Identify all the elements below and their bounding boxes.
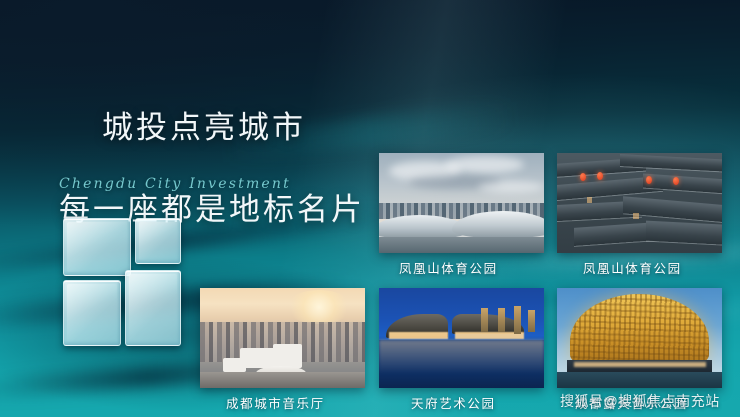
headline-line-1: 城投点亮城市 xyxy=(102,110,306,145)
background-tower xyxy=(498,308,505,332)
gallery-photo-stadium xyxy=(379,153,544,253)
lit-window xyxy=(587,197,592,203)
logo-tile-top-right xyxy=(135,218,181,264)
gallery-caption-music-hall: 成都城市音乐厅 xyxy=(226,393,325,412)
gallery-photo-music-hall xyxy=(200,288,365,388)
background-tower xyxy=(481,308,488,332)
slide-script-subtitle: Chengdu City Investment xyxy=(59,176,291,192)
water-surface xyxy=(557,372,722,388)
red-lantern xyxy=(597,172,603,180)
red-lantern xyxy=(673,177,679,185)
gallery-caption-art-park: 天府艺术公园 xyxy=(411,393,496,412)
lit-window xyxy=(633,213,639,219)
presentation-slide: 城投点亮城市 每一座都是地标名片 Chengdu City Investment… xyxy=(0,0,740,417)
gallery-caption-rooftops: 凤凰山体育公园 xyxy=(583,258,682,277)
gallery-caption-stadium: 凤凰山体育公园 xyxy=(399,258,498,277)
sun-glow xyxy=(286,290,352,324)
cloud xyxy=(445,156,524,173)
foreground-ground xyxy=(200,372,365,388)
building xyxy=(223,358,246,372)
background-tower xyxy=(514,306,521,334)
foreground-ground xyxy=(379,237,544,253)
background-tower xyxy=(528,310,535,332)
cloud xyxy=(478,181,544,193)
dome-light-strip xyxy=(574,362,706,367)
building xyxy=(273,344,303,368)
water-reflection xyxy=(379,340,544,374)
logo-tile-bottom-right xyxy=(125,270,181,346)
gallery-photo-open-air-music-park xyxy=(557,288,722,388)
facade-light-strip xyxy=(389,332,448,339)
gallery-photo-art-park xyxy=(379,288,544,388)
logo-tile-top-left xyxy=(63,218,131,276)
logo-tile-bottom-left xyxy=(63,280,121,346)
source-watermark: 搜狐号@搜狐焦点南充站 xyxy=(560,391,720,411)
gallery-photo-rooftops xyxy=(557,153,722,253)
brand-logo xyxy=(63,218,179,344)
